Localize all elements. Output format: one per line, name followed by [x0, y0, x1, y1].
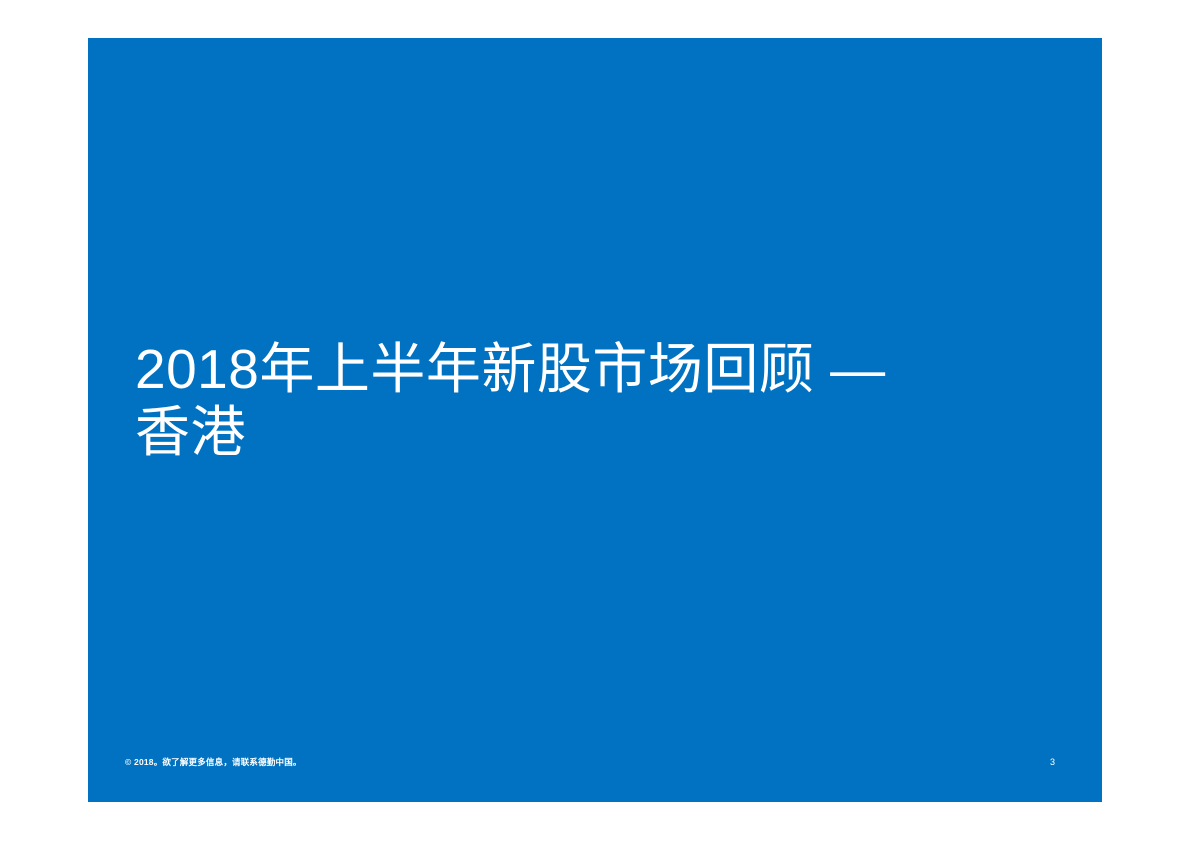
page-number: 3 — [1050, 756, 1090, 768]
slide-title: 2018年上半年新股市场回顾 — 香港 — [135, 338, 1035, 464]
slide-footer: © 2018。欲了解更多信息，请联系德勤中国。 3 — [88, 756, 1102, 776]
title-slide: 2018年上半年新股市场回顾 — 香港 © 2018。欲了解更多信息，请联系德勤… — [88, 38, 1102, 802]
slide-canvas: 2018年上半年新股市场回顾 — 香港 © 2018。欲了解更多信息，请联系德勤… — [0, 0, 1190, 841]
slide-title-line-1: 2018年上半年新股市场回顾 — — [135, 338, 1035, 401]
slide-title-line-2: 香港 — [135, 401, 1035, 464]
copyright-note: © 2018。欲了解更多信息，请联系德勤中国。 — [125, 756, 302, 768]
